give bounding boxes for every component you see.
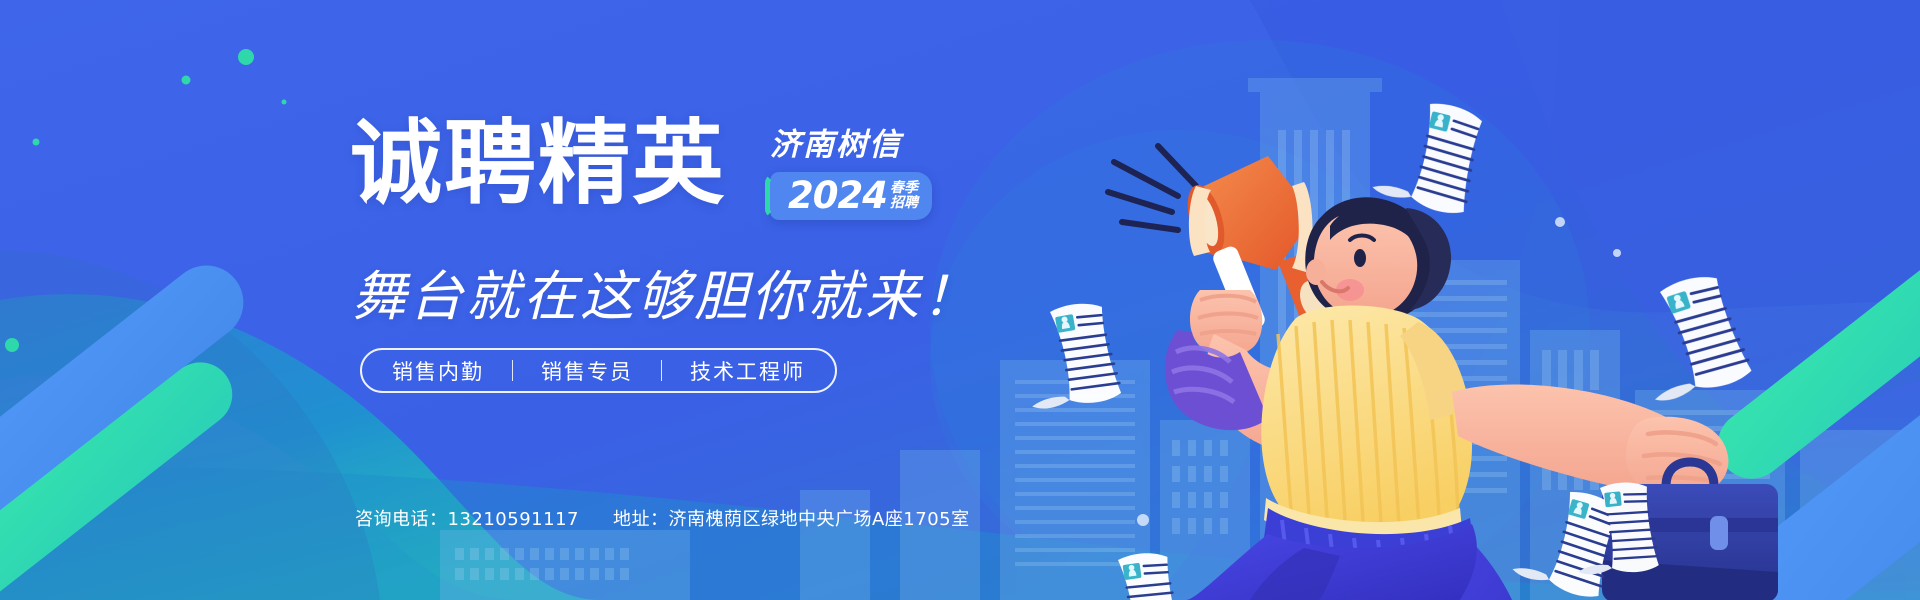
resume-paper <box>1623 269 1754 407</box>
season-char: 春 <box>890 181 904 196</box>
resume-paper <box>1086 549 1184 600</box>
badge-season: 春 季 招 聘 <box>890 181 918 210</box>
season-char: 聘 <box>904 196 918 211</box>
badge-year: 2024 <box>788 177 887 214</box>
brand-block: 济南树信 2024 春 季 招 聘 <box>770 128 970 220</box>
season-char: 招 <box>890 196 904 211</box>
resume-paper <box>1371 92 1488 217</box>
position-separator <box>512 360 513 381</box>
contact-phone: 咨询电话：13210591117 <box>355 505 579 531</box>
positions-pill: 销售内勤 销售专员 技术工程师 <box>360 348 837 393</box>
position-item-1[interactable]: 销售专员 <box>541 356 633 386</box>
page-title: 诚聘精英 <box>350 118 726 210</box>
position-separator <box>661 360 662 381</box>
position-item-2[interactable]: 技术工程师 <box>690 356 805 386</box>
position-item-0[interactable]: 销售内勤 <box>392 356 484 386</box>
page-subtitle: 舞台就在这够胆你就来！ <box>352 252 979 331</box>
company-name: 济南树信 <box>770 128 970 162</box>
text-content: 诚聘精英 济南树信 2024 春 季 招 聘 舞台就在这够胆你就来！ 销售内勤 <box>0 0 1100 600</box>
contact-info: 咨询电话：13210591117 地址：济南槐荫区绿地中央广场A座1705室 <box>355 505 970 531</box>
recruitment-banner: 诚聘精英 济南树信 2024 春 季 招 聘 舞台就在这够胆你就来！ 销售内勤 <box>0 0 1920 600</box>
contact-address: 地址：济南槐荫区绿地中央广场A座1705室 <box>613 505 970 531</box>
year-badge: 2024 春 季 招 聘 <box>770 172 932 220</box>
season-char: 季 <box>904 181 918 196</box>
